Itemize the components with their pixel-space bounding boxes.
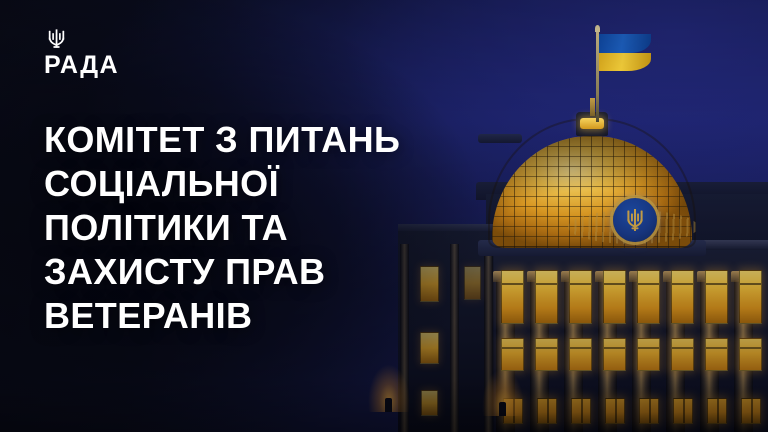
title-line: ЗАХИСТУ ПРАВ [44, 250, 514, 294]
rada-logo[interactable]: РАДА [44, 28, 204, 78]
page-title: КОМІТЕТ З ПИТАНЬ СОЦІАЛЬНОЇ ПОЛІТИКИ ТА … [44, 118, 514, 338]
ukrainian-trident-icon [47, 28, 66, 50]
title-line: СОЦІАЛЬНОЇ [44, 162, 514, 206]
title-card: РАДА КОМІТЕТ З ПИТАНЬ СОЦІАЛЬНОЇ ПОЛІТИК… [0, 0, 768, 432]
title-line: ПОЛІТИКИ ТА [44, 206, 514, 250]
title-line: ВЕТЕРАНІВ [44, 294, 514, 338]
title-line: КОМІТЕТ З ПИТАНЬ [44, 118, 514, 162]
rada-wordmark: РАДА [44, 53, 204, 78]
